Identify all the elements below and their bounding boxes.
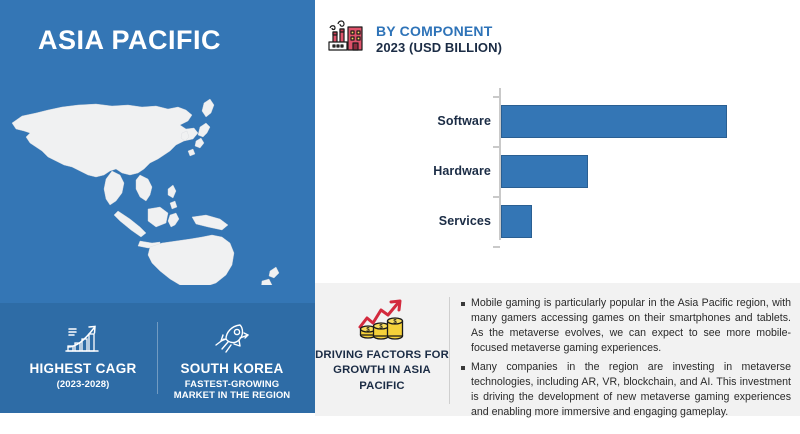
bar-row: Services: [315, 196, 800, 246]
chart-header: BY COMPONENT 2023 (USD BILLION): [327, 18, 502, 61]
bar-chart: SoftwareHardwareServices: [315, 88, 800, 248]
driving-factors-title: DRIVING FACTORS FOR GROWTH IN ASIA PACIF…: [315, 348, 449, 394]
bar-chart-growth-icon: [64, 317, 102, 355]
rocket-icon: [212, 317, 252, 355]
bar-category-label: Services: [339, 214, 499, 228]
chart-subtitle: 2023 (USD BILLION): [376, 40, 502, 56]
bar-row: Software: [315, 96, 800, 146]
driving-factors-heading: $ $ $ DRIVING FACTORS FOR GROWTH IN ASIA…: [315, 283, 449, 394]
badge-subtitle: FASTEST-GROWINGMARKET IN THE REGION: [174, 379, 291, 403]
bar-hardware[interactable]: [501, 155, 588, 188]
badge-highest-cagr: HIGHEST CAGR (2023-2028): [9, 313, 157, 403]
badge-south-korea: SOUTH KOREA FASTEST-GROWINGMARKET IN THE…: [158, 313, 306, 403]
axis-tick: [493, 196, 500, 198]
bullet-item: Many companies in the region are investi…: [461, 360, 791, 420]
badge-title: SOUTH KOREA: [180, 361, 283, 377]
bullet-text: Many companies in the region are investi…: [471, 360, 791, 420]
bar-category-label: Hardware: [339, 164, 499, 178]
bullet-item: Mobile gaming is particularly popular in…: [461, 296, 791, 356]
money-growth-icon: $ $ $: [354, 296, 410, 342]
asia-pacific-map: [0, 85, 315, 285]
bullet-marker-icon: [461, 366, 465, 370]
page-title: ASIA PACIFIC: [38, 25, 221, 56]
bullet-text: Mobile gaming is particularly popular in…: [471, 296, 791, 356]
chart-title: BY COMPONENT: [376, 23, 502, 39]
component-chart-panel: BY COMPONENT 2023 (USD BILLION) Software…: [315, 0, 800, 283]
bar-software[interactable]: [501, 105, 727, 138]
driving-factors-bullets: Mobile gaming is particularly popular in…: [450, 283, 800, 434]
axis-tick: [493, 146, 500, 148]
key-stats-panel: HIGHEST CAGR (2023-2028): [0, 303, 315, 413]
region-map-panel: ASIA PACIFIC: [0, 0, 315, 303]
axis-tick: [493, 246, 500, 248]
infographic-root: ASIA PACIFIC: [0, 0, 800, 416]
badge-subtitle: (2023-2028): [57, 379, 110, 391]
badge-title: HIGHEST CAGR: [29, 361, 136, 377]
bullet-marker-icon: [461, 302, 465, 306]
driving-factors-panel: $ $ $ DRIVING FACTORS FOR GROWTH IN ASIA…: [315, 283, 800, 416]
bar-category-label: Software: [339, 114, 499, 128]
factory-icon: [327, 18, 367, 61]
bar-row: Hardware: [315, 146, 800, 196]
bar-services[interactable]: [501, 205, 532, 238]
axis-tick: [493, 96, 500, 98]
